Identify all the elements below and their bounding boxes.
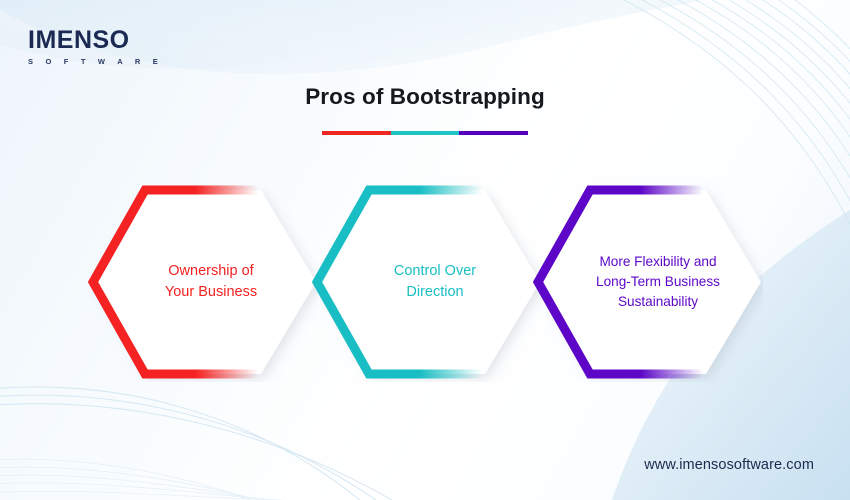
logo-wordmark: IMENSO — [28, 28, 163, 53]
pros-card-line-3: Sustainability — [618, 292, 698, 312]
infographic-slide: IMENSO S O F T W A R E Pros of Bootstrap… — [0, 0, 850, 500]
pros-card-label: More Flexibility and Long-Term Business … — [533, 182, 763, 382]
pros-card-line-2: Your Business — [165, 282, 257, 303]
website-url[interactable]: www.imensosoftware.com — [644, 457, 814, 473]
bg-arcs-bottom-left — [0, 387, 392, 500]
divider-segment-teal — [391, 131, 460, 135]
title-divider — [322, 131, 528, 135]
divider-segment-purple — [459, 131, 528, 135]
pros-card-flexibility[interactable]: More Flexibility and Long-Term Business … — [533, 182, 763, 382]
page-title: Pros of Bootstrapping — [0, 84, 850, 110]
brand-logo[interactable]: IMENSO S O F T W A R E — [28, 28, 163, 66]
pros-card-line-2: Long-Term Business — [596, 272, 720, 292]
pros-card-line-2: Direction — [406, 282, 463, 303]
pros-card-line-1: Control Over — [394, 261, 476, 282]
pros-card-label: Ownership of Your Business — [88, 182, 318, 382]
pros-card-ownership[interactable]: Ownership of Your Business — [88, 182, 318, 382]
logo-tagline: S O F T W A R E — [28, 58, 163, 66]
bg-arcs-bottom-left-fine — [0, 459, 282, 500]
pros-card-label: Control Over Direction — [312, 182, 542, 382]
divider-segment-red — [322, 131, 391, 135]
pros-hexagon-row: Ownership of Your Business — [0, 182, 850, 382]
pros-card-line-1: Ownership of — [168, 261, 253, 282]
pros-card-control[interactable]: Control Over Direction — [312, 182, 542, 382]
pros-card-line-1: More Flexibility and — [599, 252, 716, 272]
